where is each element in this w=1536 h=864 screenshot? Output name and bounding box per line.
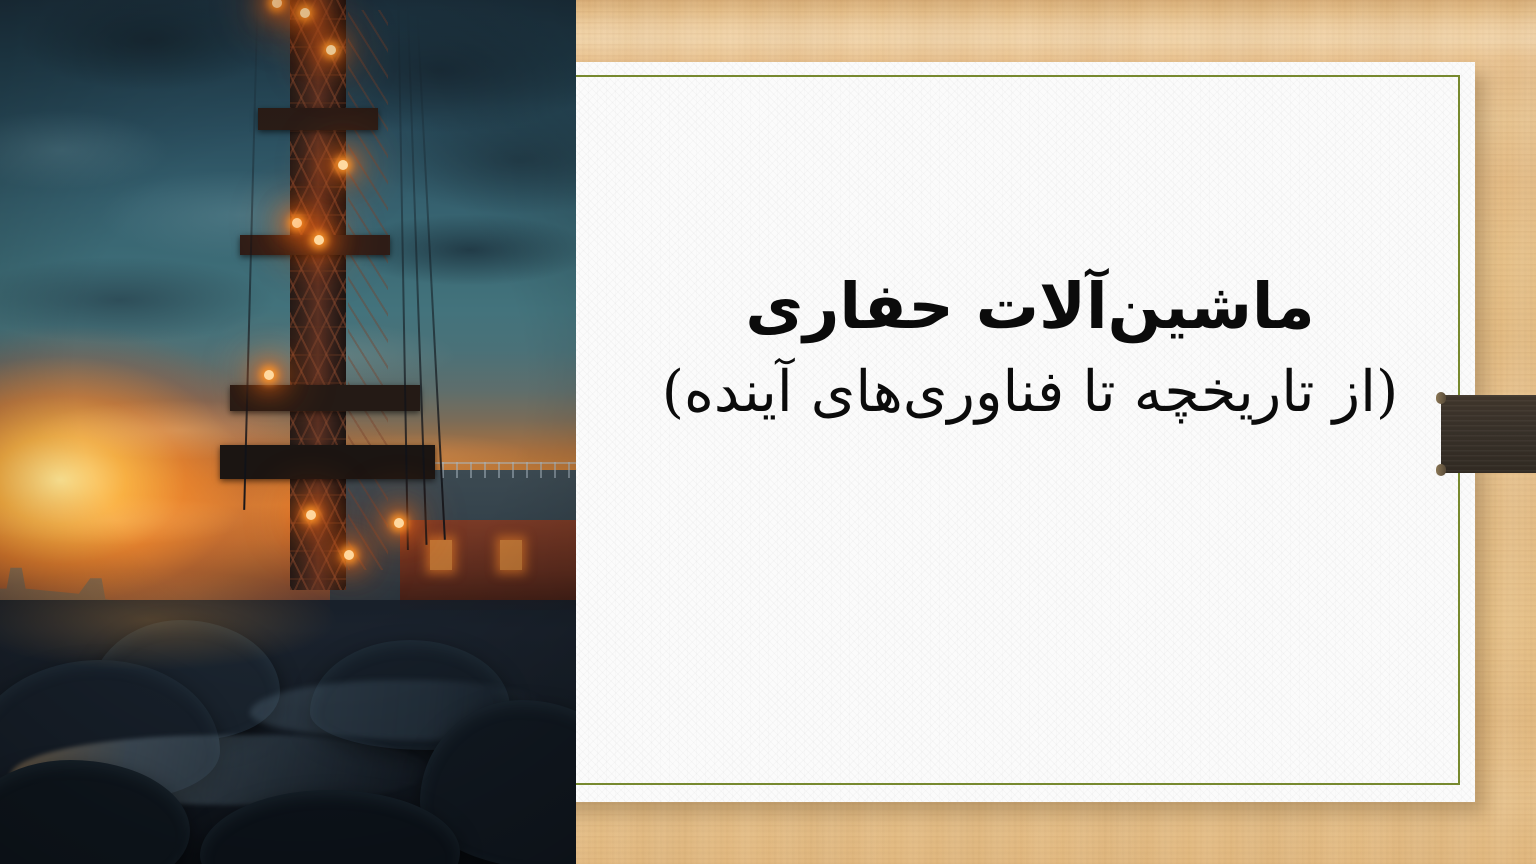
slide-subtitle: (از تاریخچه تا فناوری‌های آینده) <box>600 358 1460 428</box>
ribbon-texture <box>1441 395 1536 473</box>
ribbon-peg-bottom-icon <box>1436 464 1446 476</box>
title-block: ماشین‌آلات حفاری (از تاریخچه تا فناوری‌ه… <box>600 270 1460 428</box>
presentation-slide: ماشین‌آلات حفاری (از تاریخچه تا فناوری‌ه… <box>0 0 1536 864</box>
slide-title: ماشین‌آلات حفاری <box>600 270 1460 344</box>
ribbon-peg-top-icon <box>1436 392 1446 404</box>
photo-vignette <box>0 0 576 864</box>
drilling-rig-photo <box>0 0 576 864</box>
decorative-ribbon-tab <box>1441 395 1536 473</box>
